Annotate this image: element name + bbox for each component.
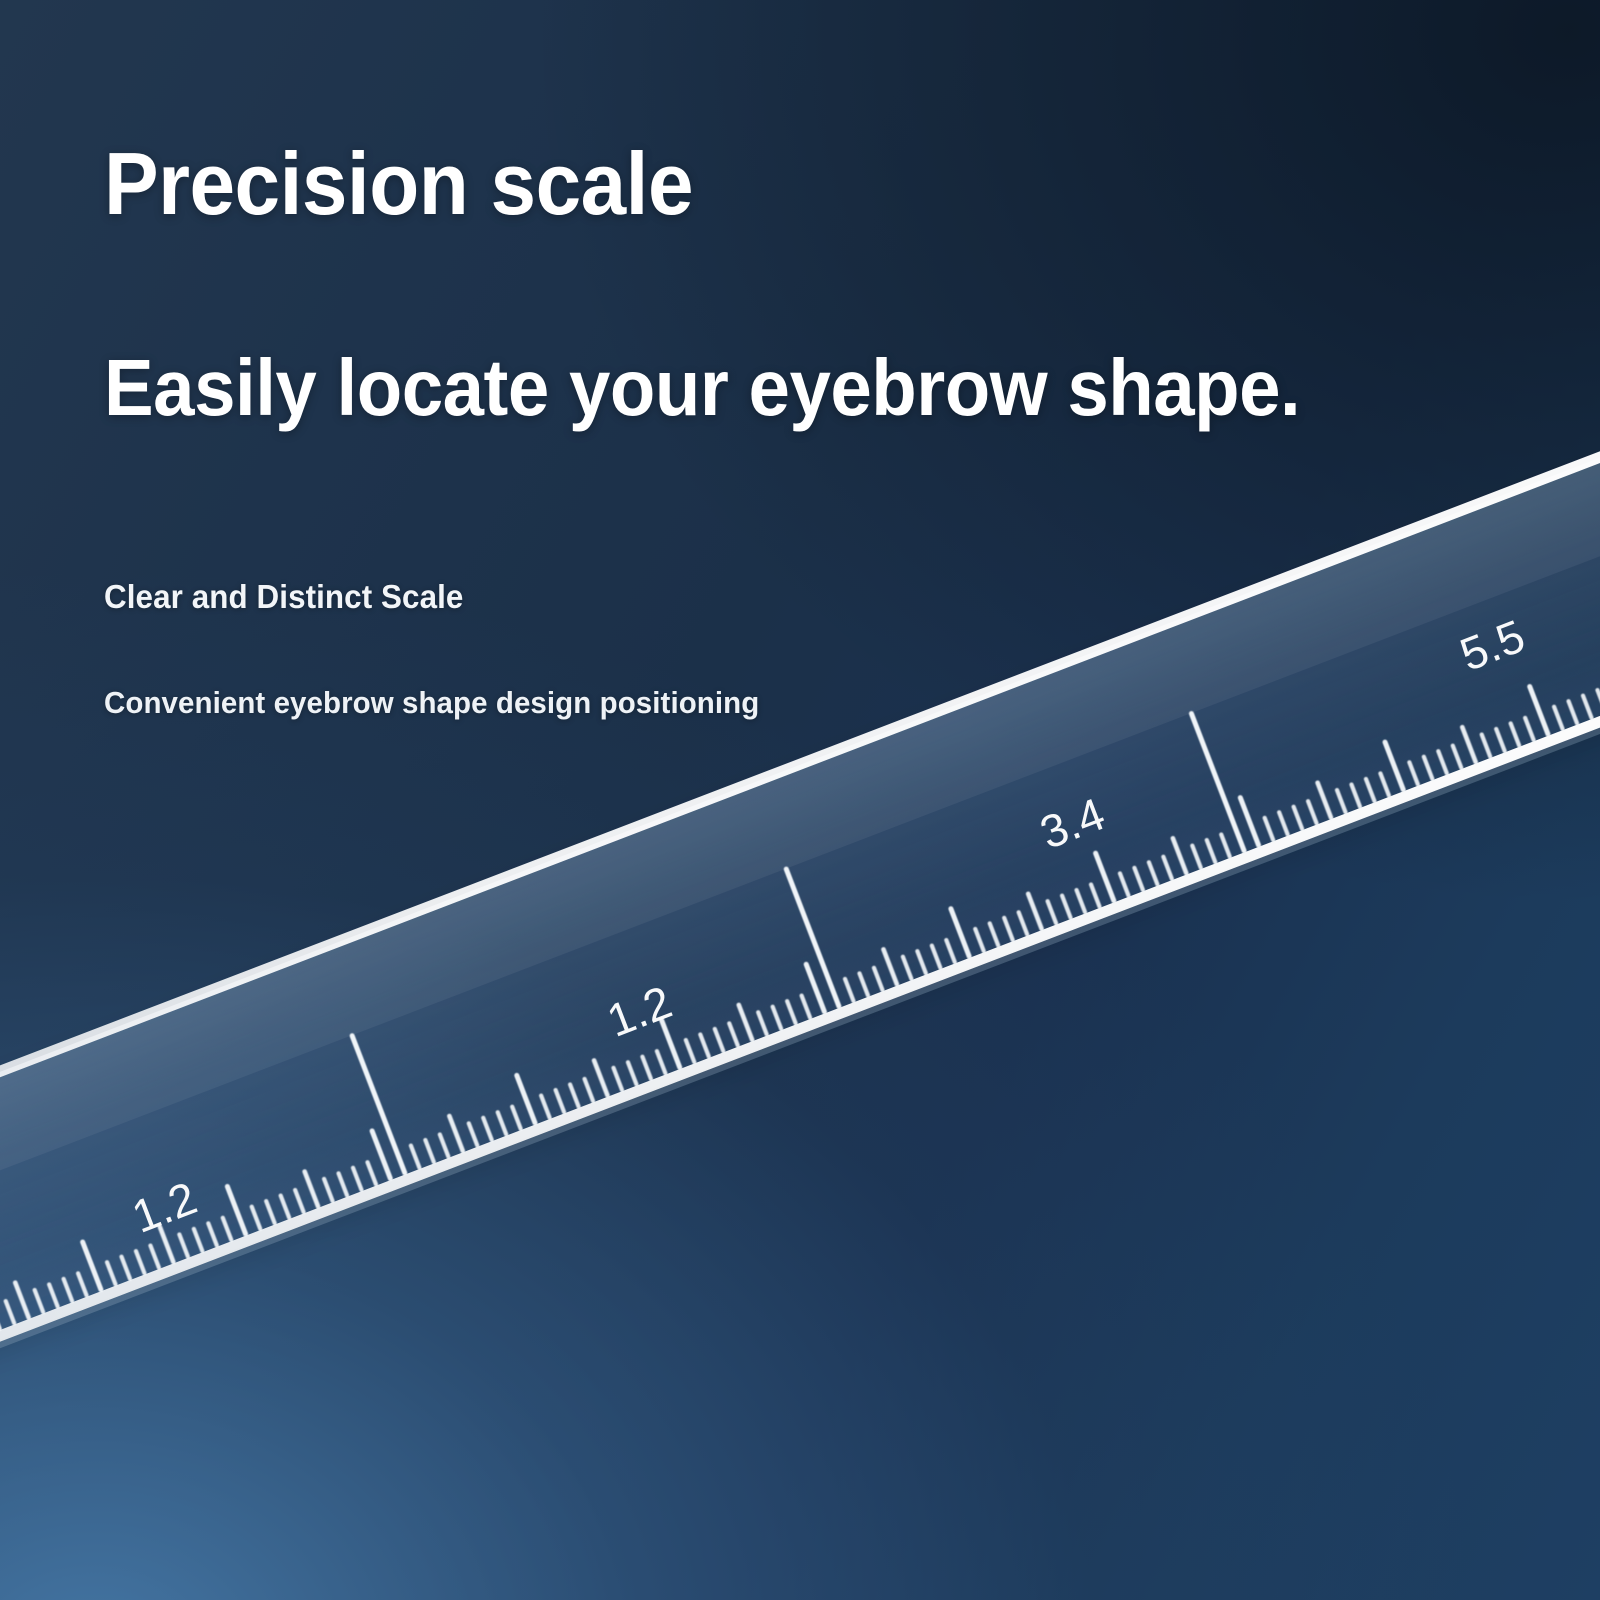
ruler-svg: 1.21.23.45.5 (0, 0, 1600, 1600)
page-subtitle: Easily locate your eyebrow shape. (104, 348, 1300, 428)
feature-item-clear-scale: Clear and Distinct Scale (104, 578, 463, 616)
promo-banner: 1.21.23.45.5 Precision scale Easily loca… (0, 0, 1600, 1600)
feature-item-positioning: Convenient eyebrow shape design position… (104, 685, 759, 721)
ruler-illustration: 1.21.23.45.5 (0, 0, 1600, 1600)
page-title: Precision scale (104, 140, 693, 228)
